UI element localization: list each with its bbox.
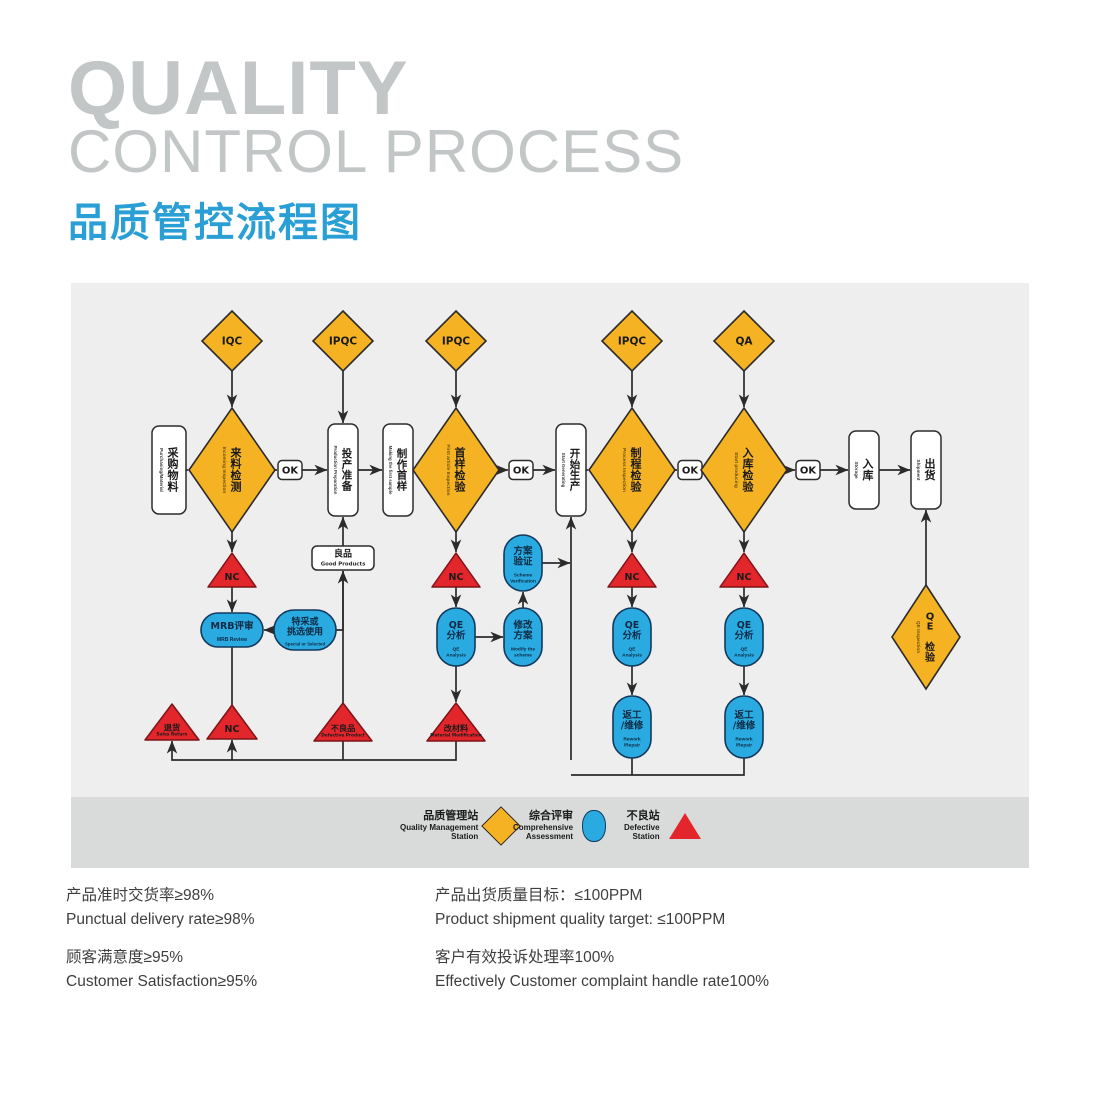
svg-text:Rework: Rework [623, 736, 641, 742]
node-rework-repair-1[interactable]: 返工/维修Rework/Repair [613, 696, 651, 758]
node-modify-scheme[interactable]: 修改方案Modify thescheme [504, 608, 542, 666]
page-header: QUALITY CONTROL PROCESS 品质管控流程图 [68, 52, 684, 248]
svg-text:/Repair: /Repair [736, 742, 752, 748]
node-scheme-verification[interactable]: 方案验证SchemeVerification [504, 535, 542, 591]
svg-text:Defective Product: Defective Product [321, 732, 365, 738]
footer-en: Punctual delivery rate≥98% [66, 908, 255, 932]
svg-text:返工: 返工 [622, 709, 642, 721]
footer-item-ppm: 产品出货质量目标：≤100PPM Product shipment qualit… [435, 884, 725, 932]
station-3-ipqc[interactable]: IPQC [602, 311, 662, 371]
legend-label-cn: 综合评审 [513, 810, 573, 823]
svg-text:QE: QE [741, 646, 749, 652]
node-storage[interactable]: 入库Storage [849, 431, 879, 509]
title-line-quality: QUALITY [68, 52, 684, 126]
node-defective-product[interactable]: 不良品Defective Product [314, 703, 372, 741]
svg-text:退货: 退货 [164, 723, 180, 733]
legend-item-quality-station: 品质管理站 Quality ManagementStation [400, 810, 515, 841]
svg-text:验: 验 [631, 480, 643, 494]
svg-text:IPQC: IPQC [618, 336, 647, 348]
svg-text:NC: NC [225, 724, 240, 735]
legend-label-en: ComprehensiveAssessment [513, 823, 573, 841]
node-shipment[interactable]: 出货Shipment [911, 431, 941, 509]
svg-text:MRB评审: MRB评审 [210, 620, 253, 632]
svg-text:QE: QE [625, 620, 640, 631]
node-incoming-inspection[interactable]: 来料检测Incoming Inspection [189, 408, 275, 532]
svg-text:分析: 分析 [734, 630, 754, 642]
svg-text:料: 料 [168, 480, 179, 494]
svg-text:Rework: Rework [735, 736, 753, 742]
svg-text:验: 验 [925, 651, 936, 664]
ellipse-icon [582, 810, 606, 842]
svg-text:库: 库 [863, 468, 874, 482]
svg-text:Special or Selected: Special or Selected [285, 642, 326, 647]
node-mrb-review[interactable]: MRB评审MRB Review [201, 613, 263, 647]
footer-en: Effectively Customer complaint handle ra… [435, 970, 769, 994]
svg-text:/维修: /维修 [621, 720, 644, 732]
svg-text:OK: OK [682, 466, 700, 477]
svg-text:修改: 修改 [512, 619, 533, 631]
svg-text:QE: QE [629, 646, 637, 652]
svg-text:QA: QA [735, 336, 753, 348]
svg-text:验: 验 [455, 480, 467, 494]
triangle-icon [669, 813, 701, 839]
node-process-inspection[interactable]: 制程检验Process Inspection [589, 408, 675, 532]
svg-text:产: 产 [570, 480, 581, 493]
svg-text:方案: 方案 [513, 630, 533, 642]
node-material-modification[interactable]: 改材料Material Modification [427, 703, 485, 741]
title-line-control: CONTROL PROCESS [68, 122, 684, 182]
svg-text:Scheme: Scheme [514, 572, 533, 578]
footer-en: Customer Satisfaction≥95% [66, 970, 257, 994]
node-nc-2[interactable]: NC [207, 705, 257, 739]
node-qe-analysis-3[interactable]: QE分析QEAnalysis [725, 608, 763, 666]
footer-cn: 顾客满意度≥95% [66, 946, 257, 970]
node-nc-5[interactable]: NC [720, 553, 768, 587]
node-nc-1[interactable]: NC [208, 553, 256, 587]
svg-text:/Repair: /Repair [624, 742, 640, 748]
node-purchasing[interactable]: 采购物料Purchasing/Material [152, 426, 186, 514]
node-making-first-sample[interactable]: 制作首样Making the first sample [383, 424, 413, 516]
svg-text:Analysis: Analysis [734, 652, 754, 658]
svg-text:Verification: Verification [510, 578, 536, 584]
svg-text:QE: QE [449, 620, 464, 631]
node-first-article-inspection[interactable]: 首样检验First article Inspection [413, 408, 499, 532]
node-rework-repair-2[interactable]: 返工/维修Rework/Repair [725, 696, 763, 758]
svg-text:方案: 方案 [513, 545, 533, 557]
node-ok-1[interactable]: OK [278, 461, 302, 480]
node-production-preparation[interactable]: 投产准备Production Preparation [328, 424, 358, 516]
svg-text:验: 验 [743, 480, 755, 494]
svg-text:Analysis: Analysis [446, 652, 466, 658]
svg-text:备: 备 [341, 480, 353, 493]
svg-text:不良品: 不良品 [331, 723, 356, 733]
node-nc-3[interactable]: NC [432, 553, 480, 587]
svg-text:Purchasing/Material: Purchasing/Material [159, 448, 164, 492]
station-4-qa[interactable]: QA [714, 311, 774, 371]
footer-cn: 产品出货质量目标：≤100PPM [435, 884, 725, 908]
svg-text:E: E [927, 622, 934, 633]
station-2-ipqc[interactable]: IPQC [426, 311, 486, 371]
svg-text:Making the first sample: Making the first sample [388, 446, 393, 495]
svg-text:挑选使用: 挑选使用 [287, 625, 323, 637]
footer-item-satisfaction: 顾客满意度≥95% Customer Satisfaction≥95% [66, 946, 257, 994]
svg-text:检: 检 [925, 641, 935, 654]
svg-text:货: 货 [924, 468, 936, 482]
svg-text:Production Preparation: Production Preparation [333, 446, 338, 495]
svg-text:First article Inspection: First article Inspection [445, 444, 451, 495]
svg-text:Modify the: Modify the [511, 646, 535, 652]
svg-text:IPQC: IPQC [442, 336, 471, 348]
svg-text:验证: 验证 [513, 556, 533, 568]
node-warehouse-inspection[interactable]: 入库检验Start producing [701, 408, 787, 532]
footer-cn: 客户有效投诉处理率100% [435, 946, 769, 970]
footer-cn: 产品准时交货率≥98% [66, 884, 255, 908]
legend-label-cn: 不良站 [624, 810, 660, 823]
station-1-ipqc[interactable]: IPQC [313, 311, 373, 371]
svg-text:/维修: /维修 [733, 720, 756, 732]
node-special-selected[interactable]: 特采或挑选使用Special or Selected [274, 610, 336, 650]
svg-text:IPQC: IPQC [329, 336, 358, 348]
svg-text:MRB Review: MRB Review [217, 637, 247, 643]
svg-text:OK: OK [513, 466, 531, 477]
legend-label-en: Quality ManagementStation [400, 823, 478, 841]
svg-text:NC: NC [225, 572, 240, 583]
svg-text:QE: QE [737, 620, 752, 631]
legend-item-defective: 不良站 DefectiveStation [624, 810, 701, 841]
node-good-products[interactable]: 良品Good Products [312, 546, 374, 570]
node-qe-analysis-1[interactable]: QE分析QEAnalysis [437, 608, 475, 666]
node-sales-return[interactable]: 退货Sales Return [145, 704, 199, 740]
legend-label-cn: 品质管理站 [400, 810, 478, 823]
node-ok-3[interactable]: OK [678, 461, 702, 480]
node-ok-4[interactable]: OK [796, 461, 820, 480]
svg-text:QE: QE [453, 646, 461, 652]
svg-text:Good Products: Good Products [321, 561, 366, 567]
title-line-chinese: 品质管控流程图 [68, 190, 684, 248]
svg-text:QE Inspection: QE Inspection [915, 621, 921, 653]
svg-text:Start producing: Start producing [733, 452, 739, 488]
footer-item-complaint: 客户有效投诉处理率100% Effectively Customer compl… [435, 946, 769, 994]
svg-text:Analysis: Analysis [622, 652, 642, 658]
node-qe-analysis-2[interactable]: QE分析QEAnalysis [613, 608, 651, 666]
svg-text:返工: 返工 [734, 709, 754, 721]
svg-text:Sales Return: Sales Return [157, 732, 188, 738]
svg-text:NC: NC [737, 572, 752, 583]
svg-text:Q: Q [926, 611, 935, 622]
svg-text:scheme: scheme [514, 652, 532, 658]
footer-en: Product shipment quality target: ≤100PPM [435, 908, 725, 932]
svg-text:OK: OK [800, 466, 818, 477]
svg-text:Start Generating: Start Generating [561, 453, 566, 488]
node-start-generating[interactable]: 开始生产Start Generating [556, 424, 586, 516]
legend-label-en: DefectiveStation [624, 823, 660, 841]
svg-text:Storage: Storage [854, 461, 859, 479]
svg-text:样: 样 [397, 480, 408, 493]
node-qe-inspection[interactable]: QE 检验QE Inspection [892, 585, 960, 689]
node-nc-4[interactable]: NC [608, 553, 656, 587]
station-0-iqc[interactable]: IQC [202, 311, 262, 371]
svg-text:良品: 良品 [334, 548, 352, 560]
legend-item-comprehensive: 综合评审 ComprehensiveAssessment [513, 810, 606, 842]
svg-text:分析: 分析 [622, 630, 642, 642]
flowchart: IQCIPQCIPQCIPQCQA采购物料Purchasing/Material… [71, 283, 1029, 797]
svg-text:Shipment: Shipment [916, 460, 921, 481]
svg-text:IQC: IQC [222, 336, 243, 348]
svg-text:特采或: 特采或 [291, 615, 318, 627]
svg-text:NC: NC [625, 572, 640, 583]
node-ok-2[interactable]: OK [509, 461, 533, 480]
footer-item-delivery: 产品准时交货率≥98% Punctual delivery rate≥98% [66, 884, 255, 932]
svg-text:Process Inspection: Process Inspection [621, 448, 627, 492]
svg-text:Incoming Inspection: Incoming Inspection [221, 447, 227, 494]
svg-text:NC: NC [449, 572, 464, 583]
svg-text:测: 测 [231, 480, 242, 494]
svg-text:Material Modification: Material Modification [430, 732, 482, 738]
svg-text:改材料: 改材料 [444, 723, 469, 733]
svg-text:分析: 分析 [446, 630, 466, 642]
flowchart-svg: IQCIPQCIPQCIPQCQA采购物料Purchasing/Material… [71, 283, 1029, 797]
svg-text:OK: OK [282, 466, 300, 477]
